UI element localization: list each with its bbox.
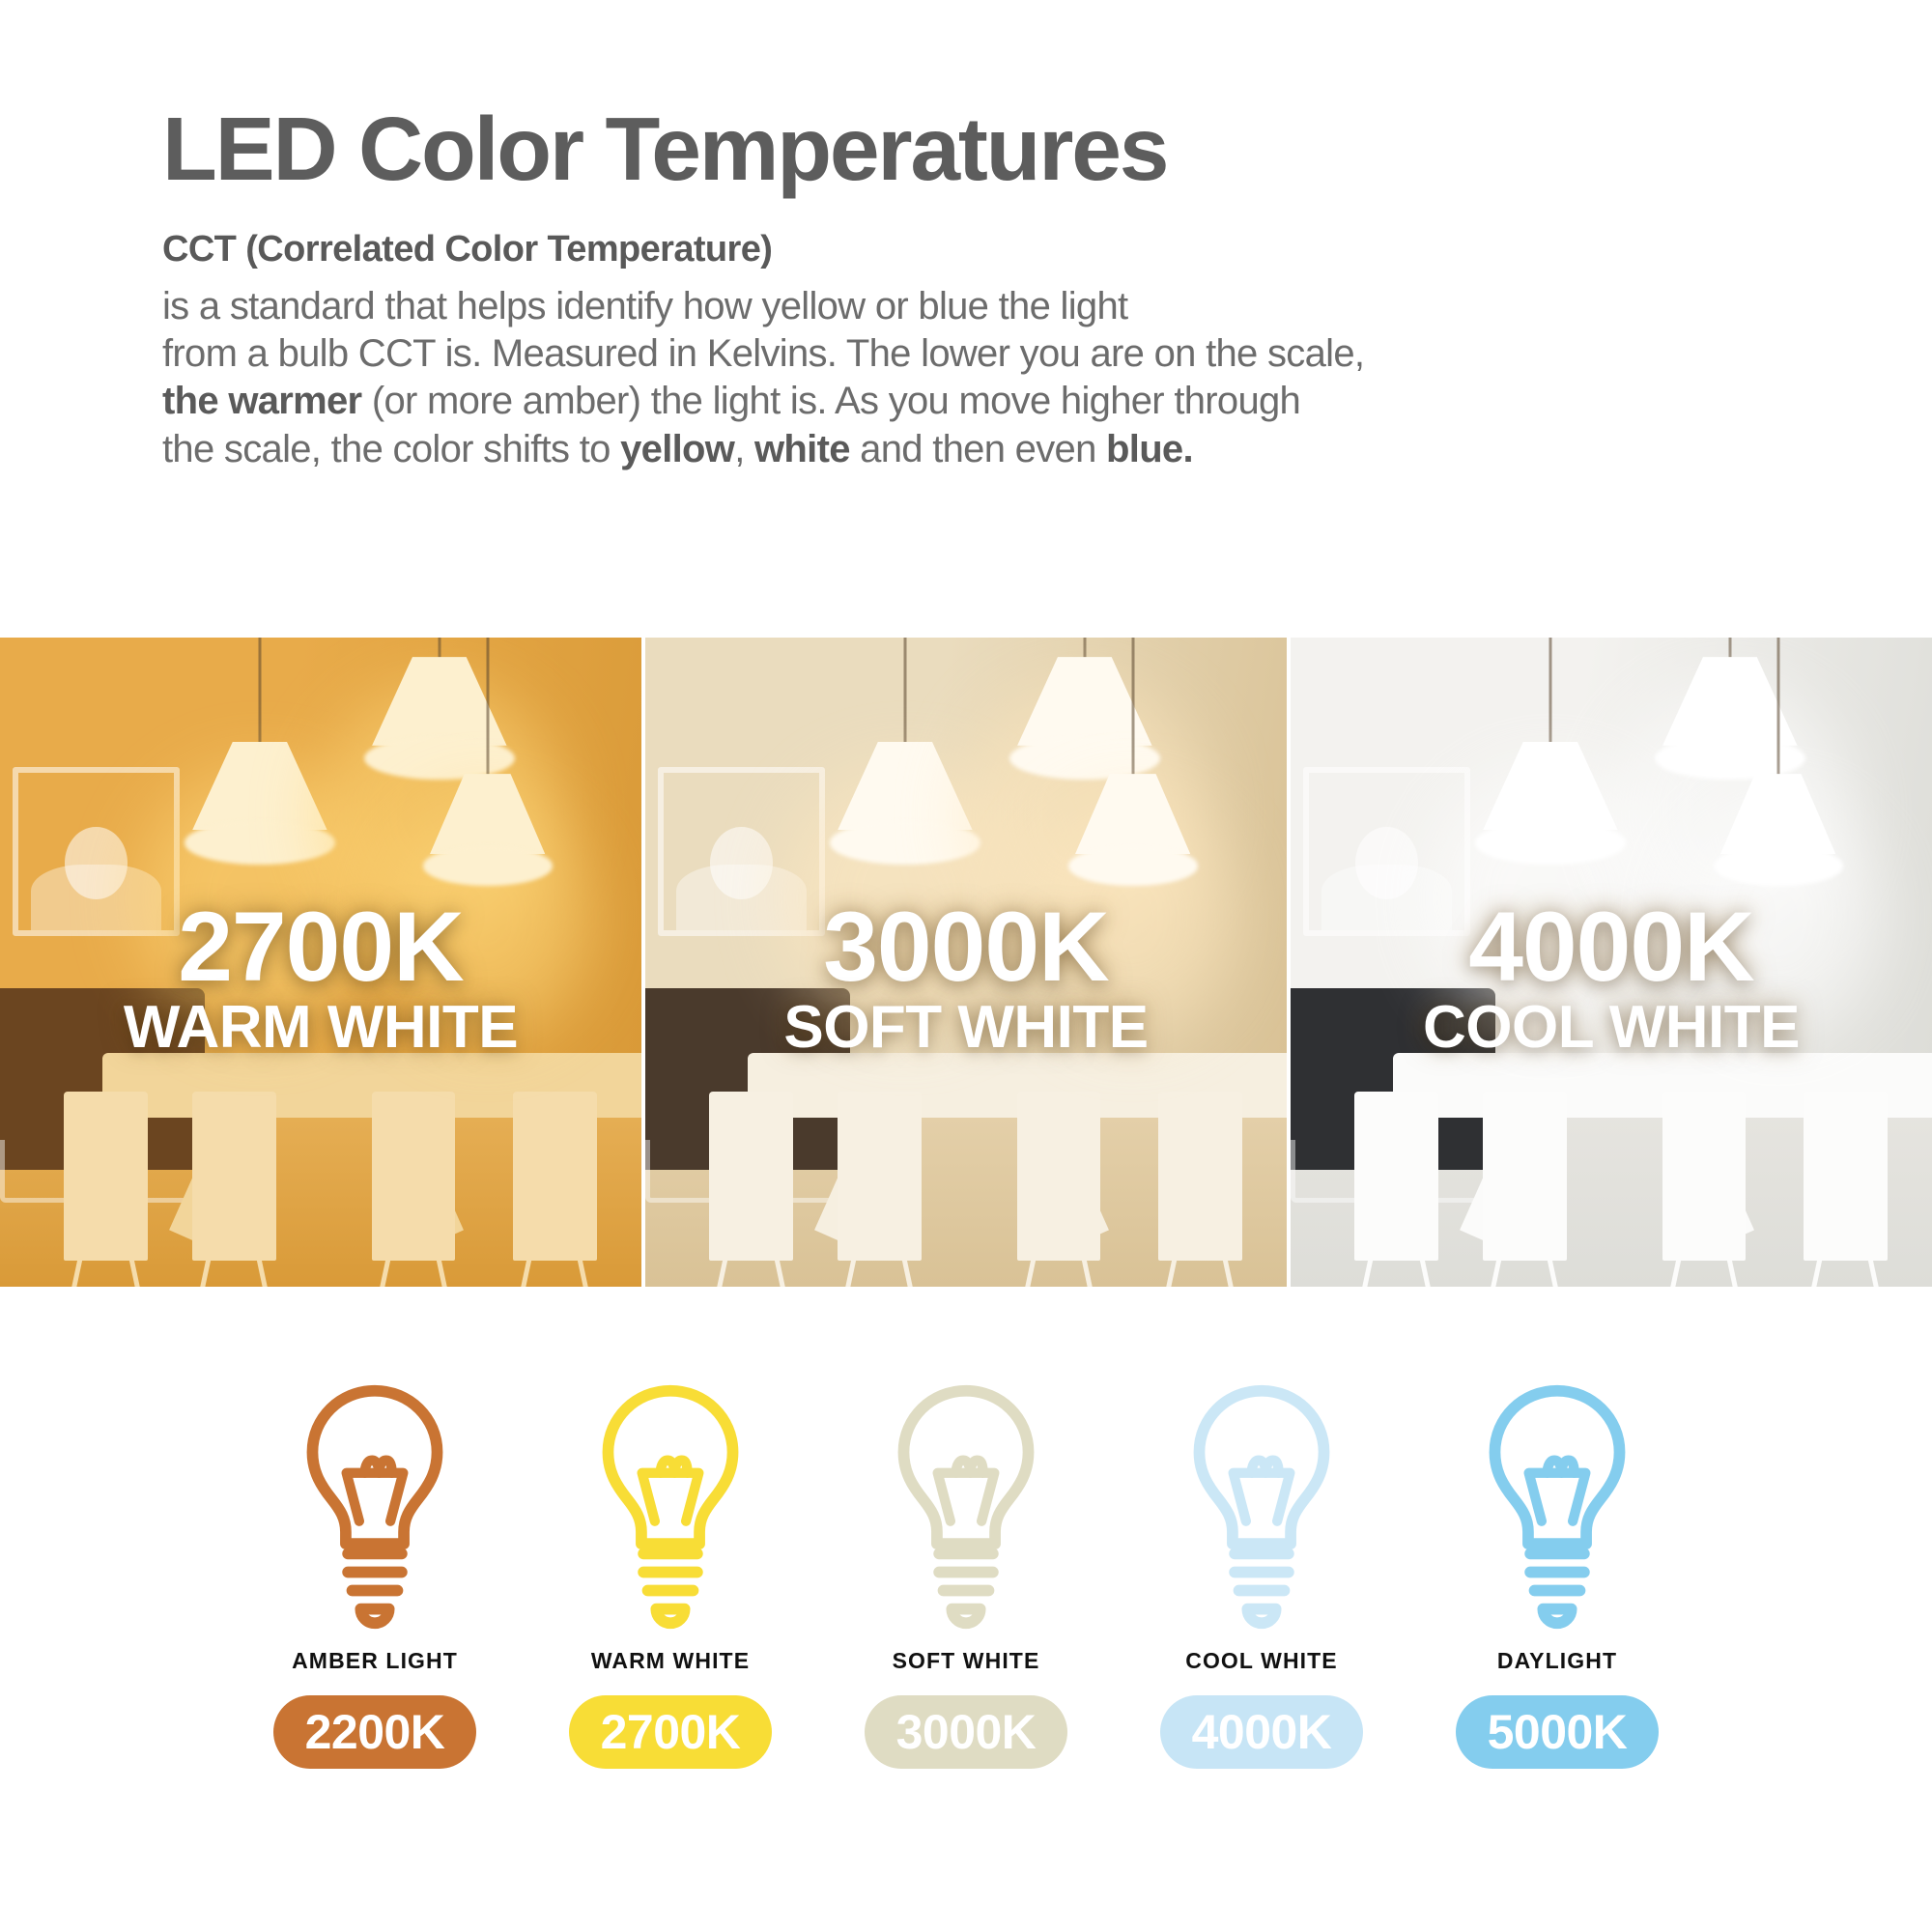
- kelvin-badge: 2700K: [569, 1695, 772, 1769]
- chair: [192, 1092, 275, 1261]
- chair: [1158, 1092, 1241, 1261]
- chair: [372, 1092, 455, 1261]
- legend-item-daylight: DAYLIGHT 5000K: [1447, 1381, 1667, 1769]
- pendant-lamp: [1483, 742, 1617, 885]
- chair: [1804, 1092, 1887, 1261]
- pendant-lamp: [1720, 774, 1836, 903]
- kelvin-badge: 3000K: [865, 1695, 1067, 1769]
- subheading: CCT (Correlated Color Temperature): [162, 231, 1824, 268]
- photo-panel-3000k: 3000K SOFT WHITE: [645, 638, 1287, 1287]
- kelvin-badge: 2200K: [273, 1695, 476, 1769]
- panel-name-label: COOL WHITE: [1291, 998, 1932, 1058]
- intro-paragraph: is a standard that helps identify how ye…: [162, 283, 1756, 473]
- chair: [1354, 1092, 1437, 1261]
- chair: [1662, 1092, 1746, 1261]
- kelvin-badge: 4000K: [1160, 1695, 1363, 1769]
- legend-item-cool-white: COOL WHITE 4000K: [1151, 1381, 1372, 1769]
- lightbulb-icon: [1472, 1381, 1642, 1633]
- legend-label: SOFT WHITE: [893, 1648, 1040, 1674]
- lightbulb-icon: [585, 1381, 755, 1633]
- legend-label: COOL WHITE: [1185, 1648, 1338, 1674]
- page-title: LED Color Temperatures: [162, 104, 1824, 194]
- chair: [709, 1092, 792, 1261]
- photo-panel-4000k: 4000K COOL WHITE: [1291, 638, 1932, 1287]
- chair: [1017, 1092, 1100, 1261]
- lightbulb-icon: [1177, 1381, 1347, 1633]
- panel-kelvin-label: 4000K: [1291, 897, 1932, 996]
- panel-kelvin-label: 3000K: [645, 897, 1287, 996]
- photo-panel-2700k: 2700K WARM WHITE: [0, 638, 641, 1287]
- chair: [513, 1092, 596, 1261]
- pendant-lamp: [1075, 774, 1191, 903]
- lightbulb-icon: [881, 1381, 1051, 1633]
- pendant-lamp: [838, 742, 972, 885]
- header-block: LED Color Temperatures CCT (Correlated C…: [162, 104, 1824, 473]
- kelvin-badge: 5000K: [1456, 1695, 1659, 1769]
- legend-item-soft-white: SOFT WHITE 3000K: [856, 1381, 1076, 1769]
- photo-strip: 2700K WARM WHITE 3000K SOFT: [0, 638, 1932, 1287]
- infographic-page: LED Color Temperatures CCT (Correlated C…: [0, 0, 1932, 1932]
- chair: [1483, 1092, 1566, 1261]
- pendant-lamp: [430, 774, 546, 903]
- panel-name-label: SOFT WHITE: [645, 998, 1287, 1058]
- legend-label: WARM WHITE: [591, 1648, 750, 1674]
- chair: [838, 1092, 921, 1261]
- pendant-lamp: [192, 742, 327, 885]
- legend-label: AMBER LIGHT: [292, 1648, 458, 1674]
- lightbulb-icon: [290, 1381, 460, 1633]
- panel-name-label: WARM WHITE: [0, 998, 641, 1058]
- bulb-legend: AMBER LIGHT 2200K WARM WHITE 2700K: [0, 1381, 1932, 1769]
- legend-item-warm-white: WARM WHITE 2700K: [560, 1381, 781, 1769]
- chair: [64, 1092, 147, 1261]
- panel-kelvin-label: 2700K: [0, 897, 641, 996]
- legend-label: DAYLIGHT: [1497, 1648, 1617, 1674]
- legend-item-amber-light: AMBER LIGHT 2200K: [265, 1381, 485, 1769]
